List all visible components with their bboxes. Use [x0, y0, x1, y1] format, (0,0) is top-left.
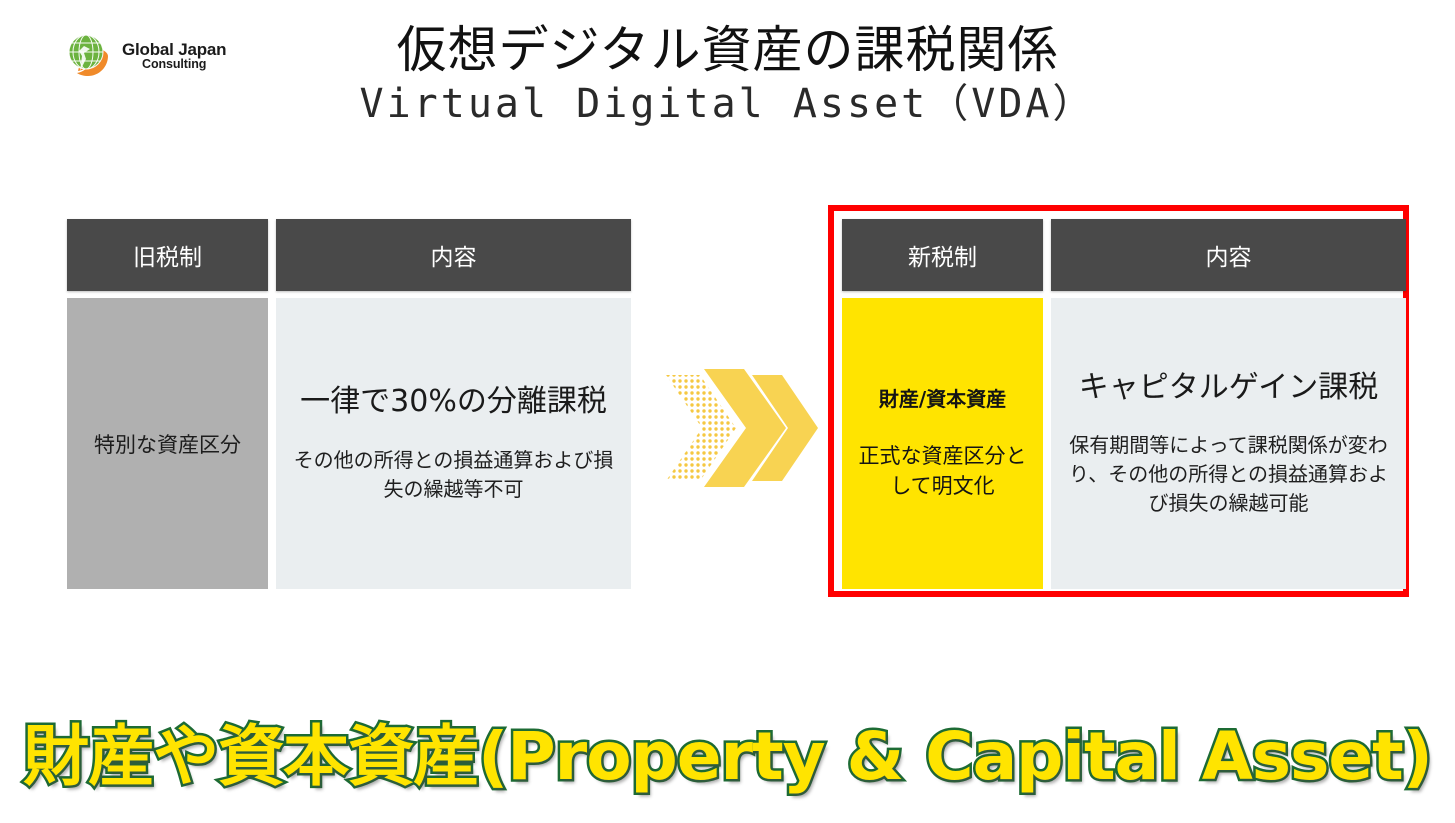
new-table-header-regime: 新税制: [842, 219, 1043, 291]
new-table-category-heading: 財産/資本資産: [879, 386, 1006, 412]
old-table-body-row: 特別な資産区分 一律で30%の分離課税 その他の所得との損益通算および損失の繰越…: [67, 298, 631, 589]
old-table-header-regime: 旧税制: [67, 219, 268, 291]
old-tax-system-table: 旧税制 内容 特別な資産区分 一律で30%の分離課税 その他の所得との損益通算お…: [67, 219, 631, 589]
new-table-body-row: 財産/資本資産 正式な資産区分として明文化 キャピタルゲイン課税 保有期間等によ…: [842, 298, 1406, 589]
new-table-content-heading: キャピタルゲイン課税: [1079, 369, 1378, 407]
old-table-category-text: 特別な資産区分: [94, 429, 241, 459]
old-table-header-content: 内容: [276, 219, 631, 291]
new-table-category-cell: 財産/資本資産 正式な資産区分として明文化: [842, 298, 1043, 589]
slide-title-block: 仮想デジタル資産の課税関係 Virtual Digital Asset（VDA）: [0, 22, 1455, 126]
old-table-content-cell: 一律で30%の分離課税 その他の所得との損益通算および損失の繰越等不可: [276, 298, 631, 589]
new-tax-system-table: 新税制 内容 財産/資本資産 正式な資産区分として明文化 キャピタルゲイン課税 …: [842, 219, 1406, 589]
bottom-caption: 財産や資本資産(Property & Capital Asset): [0, 703, 1455, 799]
new-table-category-body: 正式な資産区分として明文化: [850, 442, 1035, 502]
new-table-header-content: 内容: [1051, 219, 1406, 291]
triple-chevron-right-icon: [666, 367, 818, 489]
old-table-category-cell: 特別な資産区分: [67, 298, 268, 589]
new-table-header-row: 新税制 内容: [842, 219, 1406, 291]
old-table-content-body: その他の所得との損益通算および損失の繰越等不可: [288, 446, 619, 504]
page-subtitle: Virtual Digital Asset（VDA）: [0, 82, 1455, 126]
old-table-content-heading: 一律で30%の分離課税: [300, 383, 607, 421]
new-table-content-cell: キャピタルゲイン課税 保有期間等によって課税関係が変わり、その他の所得との損益通…: [1051, 298, 1406, 589]
page-title: 仮想デジタル資産の課税関係: [0, 22, 1455, 78]
old-table-header-row: 旧税制 内容: [67, 219, 631, 291]
new-table-content-body: 保有期間等によって課税関係が変わり、その他の所得との損益通算および損失の繰越可能: [1061, 431, 1396, 518]
